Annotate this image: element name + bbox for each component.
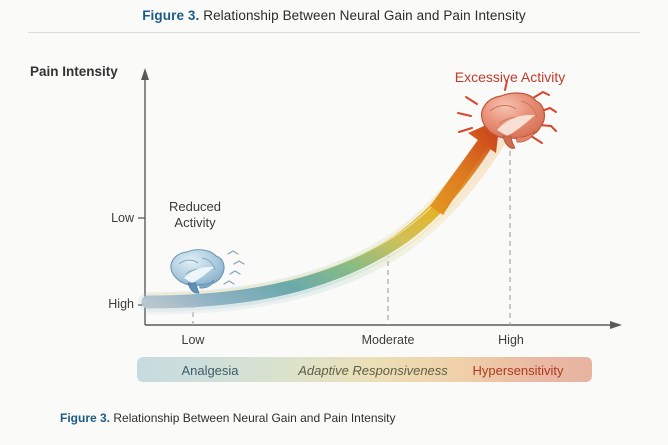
- y-tick-label-high: High: [72, 297, 134, 311]
- x-tick-label-moderate: Moderate: [348, 333, 428, 347]
- reduced-activity-label: Reduced Activity: [145, 199, 245, 231]
- red-brain-icon: [458, 81, 556, 148]
- figure-caption-text: Relationship Between Neural Gain and Pai…: [110, 411, 396, 425]
- x-axis-arrowhead: [610, 321, 622, 329]
- blue-brain-icon: [171, 250, 244, 293]
- figure-caption: Figure 3. Relationship Between Neural Ga…: [60, 411, 396, 425]
- y-tick-label-low: Low: [72, 211, 134, 225]
- y-axis-arrowhead: [141, 68, 149, 80]
- legend-label-adaptive-responsiveness: Adaptive Responsiveness: [288, 363, 458, 378]
- figure-page: Figure 3. Relationship Between Neural Ga…: [0, 0, 668, 445]
- x-tick-label-low: Low: [163, 333, 223, 347]
- y-axis-title: Pain Intensity: [30, 64, 118, 79]
- figure-caption-label: Figure 3.: [60, 411, 110, 425]
- legend-label-analgesia: Analgesia: [150, 363, 270, 378]
- x-tick-label-high: High: [481, 333, 541, 347]
- excessive-activity-label: Excessive Activity: [425, 69, 595, 85]
- legend-label-hypersensitivity: Hypersensitivity: [448, 363, 588, 378]
